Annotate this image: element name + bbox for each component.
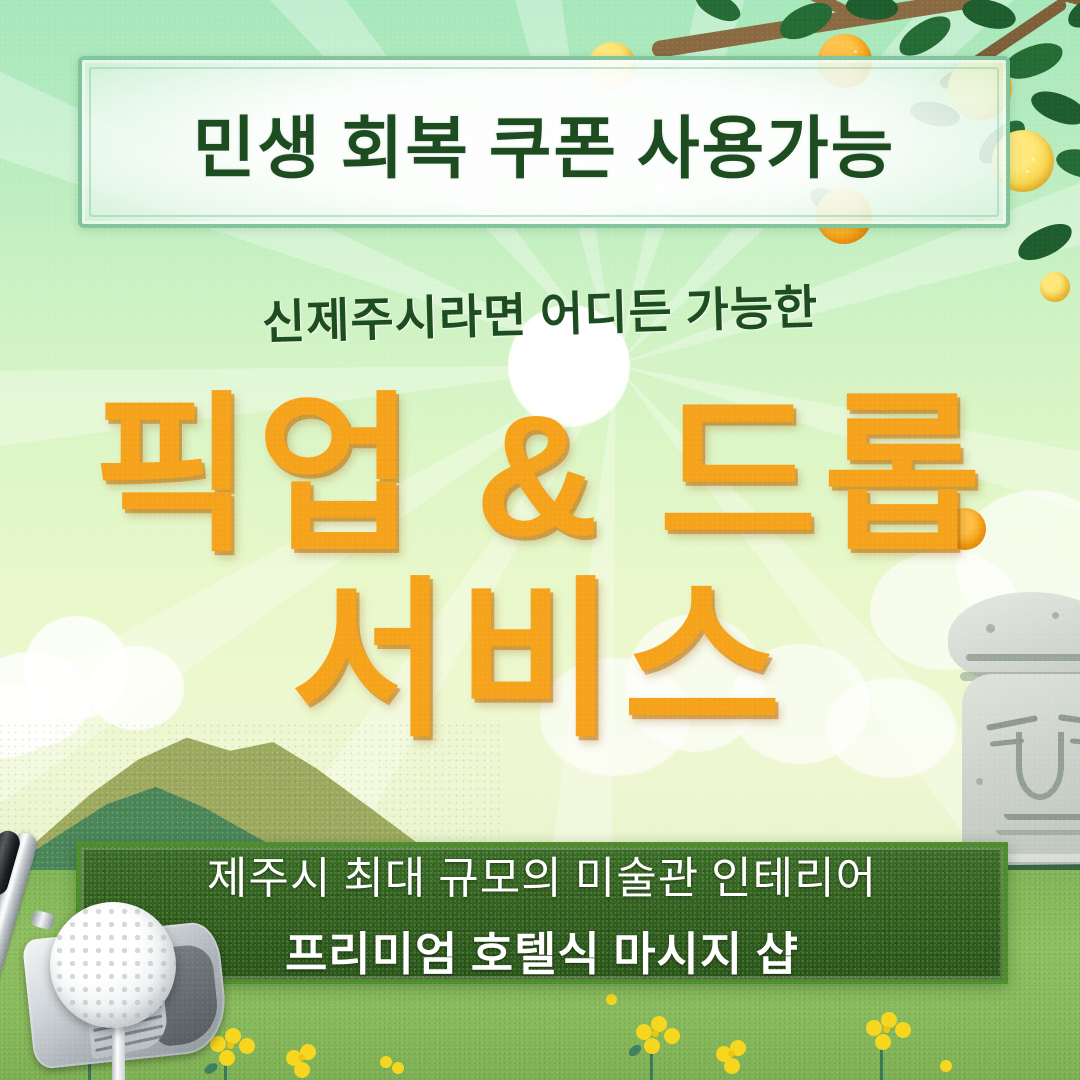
headline-line-2: 서비스 — [0, 577, 1080, 746]
coupon-banner: 민생 회복 쿠폰 사용가능 — [78, 56, 1010, 228]
headline: 픽업 & 드롭 서비스 — [0, 392, 1080, 745]
promo-poster: 민생 회복 쿠폰 사용가능 신제주시라면 어디든 가능한 픽업 & 드롭 서비스… — [0, 0, 1080, 1080]
golf-ball — [50, 902, 176, 1028]
description-line-2: 프리미엄 호텔식 마시지 샵 — [285, 918, 799, 984]
coupon-banner-text: 민생 회복 쿠폰 사용가능 — [193, 93, 896, 192]
description-line-1: 제주시 최대 규모의 미술관 인테리어 — [207, 842, 877, 906]
headline-line-1: 픽업 & 드롭 — [0, 392, 1080, 561]
